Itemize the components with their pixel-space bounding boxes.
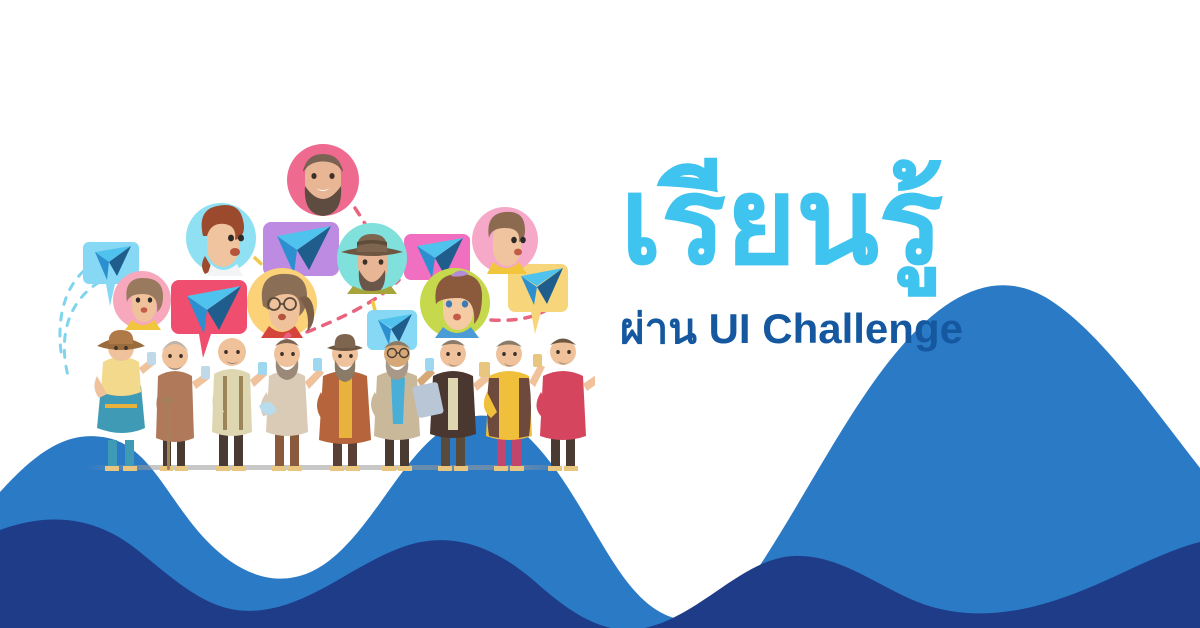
page-subtitle: ผ่าน UI Challenge: [620, 306, 1140, 352]
text-block: เรียนรู้ ผ่าน UI Challenge: [620, 160, 1140, 352]
bubble-yellow[interactable]: [508, 264, 568, 334]
page-title: เรียนรู้: [620, 160, 1140, 282]
avatar-glasses-woman[interactable]: [247, 268, 317, 338]
avatar-green-girl[interactable]: [420, 268, 490, 338]
avatar-bearded-man-top[interactable]: [287, 144, 359, 216]
avatar-curly-woman[interactable]: [186, 203, 256, 276]
person-hat-long-coat[interactable]: [317, 334, 371, 471]
person-bearded-man-beige[interactable]: [259, 332, 324, 471]
person-yellow-vest-phone[interactable]: [484, 341, 545, 472]
person-man-cane-brown[interactable]: [156, 341, 210, 471]
promo-banner: เรียนรู้ ผ่าน UI Challenge: [0, 0, 1200, 628]
person-red-jacket-selfie[interactable]: [536, 339, 595, 472]
people-group: [94, 330, 595, 471]
person-tablet-man-dark-jacket[interactable]: [412, 340, 492, 471]
person-bald-man-suspenders[interactable]: [212, 338, 267, 471]
wave-dark-navy: [0, 520, 1200, 628]
person-woman-hat-overalls[interactable]: [94, 330, 156, 471]
avatar-pink-lady-right[interactable]: [472, 207, 538, 274]
illustration-elderly-social-network: [55, 140, 595, 480]
avatar-old-lady-left[interactable]: [113, 271, 171, 330]
